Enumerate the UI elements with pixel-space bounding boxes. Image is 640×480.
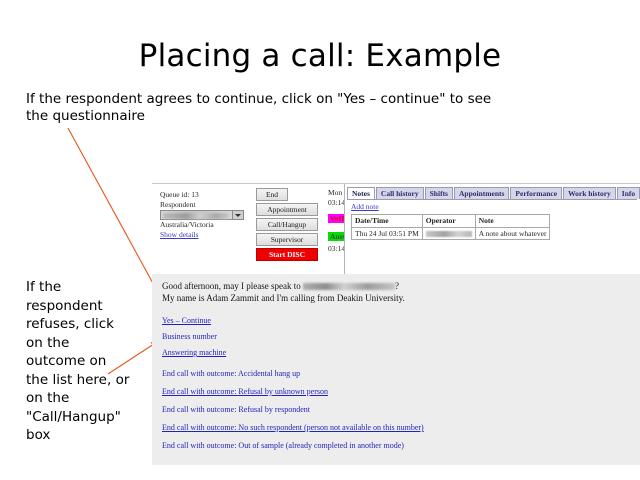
notes-table: Date/Time Operator Note Thu 24 Jul 03:51… [351, 214, 550, 240]
notes-table-header-row: Date/Time Operator Note [352, 215, 550, 228]
queue-id-label: Queue id: 13 [160, 190, 258, 200]
script-question-mark: ? [395, 281, 399, 291]
annotation-left-text: If the respondent refuses, click on the … [26, 278, 130, 445]
tab-appointments[interactable]: Appointments [454, 187, 509, 199]
appointment-button[interactable]: Appointment [256, 203, 318, 216]
respondent-select[interactable] [160, 210, 244, 220]
tab-info[interactable]: Info [617, 187, 640, 199]
link-yes-continue[interactable]: Yes – Continue [162, 316, 211, 326]
link-outcome-out-of-sample[interactable]: End call with outcome: Out of sample (al… [162, 441, 404, 451]
link-answering-machine[interactable]: Answering machine [162, 348, 226, 358]
supervisor-button[interactable]: Supervisor [256, 233, 318, 246]
start-disc-button[interactable]: Start DISC [256, 248, 318, 261]
call-control-panel: Queue id: 13 Respondent Australia/Victor… [152, 183, 640, 274]
tab-strip: Notes Call history Shifts Appointments P… [347, 187, 640, 199]
script-greeting: Good afternoon, may I please speak to [162, 281, 303, 291]
respondent-label: Respondent [160, 200, 258, 210]
note-datetime: Thu 24 Jul 03:51 PM [352, 227, 423, 240]
link-business-number[interactable]: Business number [162, 332, 217, 342]
link-outcome-no-such-respondent[interactable]: End call with outcome: No such responden… [162, 423, 424, 433]
timezone-label: Australia/Victoria [160, 220, 258, 230]
chevron-down-icon[interactable] [232, 211, 243, 219]
call-script-area: Good afternoon, may I please speak to ? … [152, 277, 640, 465]
redacted-respondent-name-inline [303, 283, 395, 290]
call-hangup-button[interactable]: Call/Hangup [256, 218, 318, 231]
note-operator [422, 227, 475, 240]
notes-col-operator: Operator [422, 215, 475, 228]
notes-col-datetime: Date/Time [352, 215, 423, 228]
page-title: Placing a call: Example [0, 38, 640, 74]
link-outcome-refusal-unknown-person[interactable]: End call with outcome: Refusal by unknow… [162, 387, 328, 397]
add-note-link[interactable]: Add note [351, 202, 379, 212]
tab-strip-divider [347, 199, 637, 200]
script-line-1: Good afternoon, may I please speak to ? [162, 281, 399, 292]
annotation-top-text: If the respondent agrees to continue, cl… [26, 91, 496, 125]
tab-call-history[interactable]: Call history [376, 187, 424, 199]
script-line-2: My name is Adam Zammit and I'm calling f… [162, 293, 405, 304]
tab-notes[interactable]: Notes [347, 187, 375, 199]
tab-work-history[interactable]: Work history [563, 187, 616, 199]
link-outcome-refusal-respondent[interactable]: End call with outcome: Refusal by respon… [162, 405, 310, 415]
embedded-app-screenshot: Queue id: 13 Respondent Australia/Victor… [152, 183, 640, 465]
operator-info-tab-panel: Notes Call history Shifts Appointments P… [344, 184, 640, 274]
tab-shifts[interactable]: Shifts [425, 187, 453, 199]
redacted-respondent-name [163, 213, 229, 219]
note-text: A note about whatever [475, 227, 550, 240]
arrow-to-yes-continue [68, 128, 161, 298]
tab-performance[interactable]: Performance [510, 187, 562, 199]
show-details-link[interactable]: Show details [160, 230, 258, 240]
end-button[interactable]: End [256, 188, 288, 201]
respondent-block: Queue id: 13 Respondent Australia/Victor… [160, 190, 258, 240]
link-outcome-accidental-hang-up[interactable]: End call with outcome: Accidental hang u… [162, 369, 300, 379]
notes-col-note: Note [475, 215, 550, 228]
redacted-operator-name [426, 231, 472, 237]
call-action-buttons: End Appointment Call/Hangup Supervisor S… [256, 188, 316, 263]
table-row: Thu 24 Jul 03:51 PM A note about whateve… [352, 227, 550, 240]
